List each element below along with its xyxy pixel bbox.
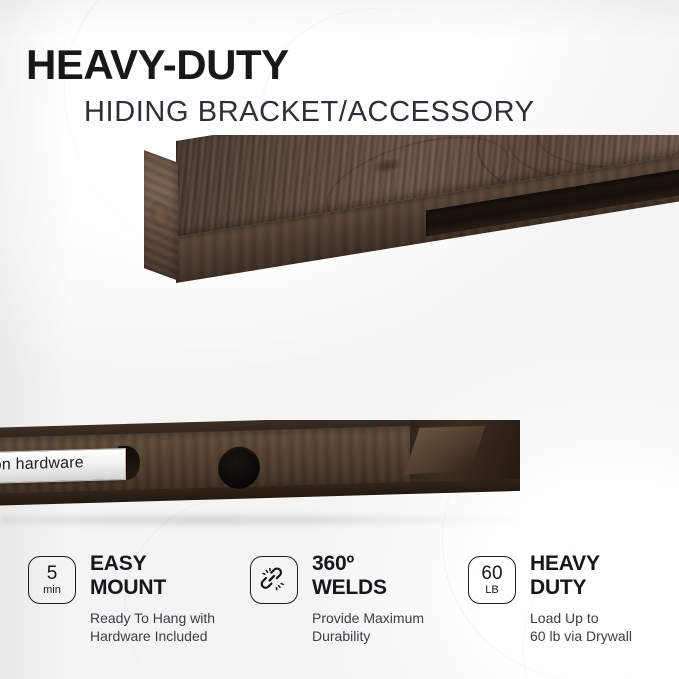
clock-badge-icon: 5 min (28, 556, 76, 604)
page-subtitle: HIDING BRACKET/ACCESSORY (84, 98, 535, 127)
feature-heading: HEAVY DUTY (530, 552, 600, 601)
background-vignette-top (0, 0, 679, 40)
feature-heading: 360º WELDS (312, 552, 387, 601)
feature-heading: EASY MOUNT (90, 552, 166, 601)
feature-description: Ready To Hang with Hardware Included (90, 610, 215, 646)
bar-shadow (0, 514, 520, 526)
badge-unit: LB (485, 585, 498, 596)
page-title: HEAVY-DUTY (26, 44, 289, 86)
detail-product-photo: ion hardware (0, 420, 679, 530)
product-infographic: HEAVY-DUTY HIDING BRACKET/ACCESSORY (0, 0, 679, 679)
chain-link-weld-icon (250, 556, 298, 604)
badge-value: 5 (47, 564, 58, 583)
feature-row: 5 min EASY MOUNT Ready To Hang with Hard… (0, 552, 679, 662)
feature-description: Provide Maximum Durability (312, 610, 424, 646)
badge-unit: min (43, 585, 61, 596)
installation-hardware-sticker-detail: ion hardware (0, 448, 126, 484)
wood-shelf-board (176, 135, 679, 291)
weight-badge-icon: 60 LB (468, 556, 516, 604)
feature-description: Load Up to 60 lb via Drywall (530, 610, 632, 646)
badge-value: 60 (481, 564, 502, 583)
main-product-photo: installation h (0, 135, 679, 360)
sticker-label: ion hardware (0, 454, 84, 475)
